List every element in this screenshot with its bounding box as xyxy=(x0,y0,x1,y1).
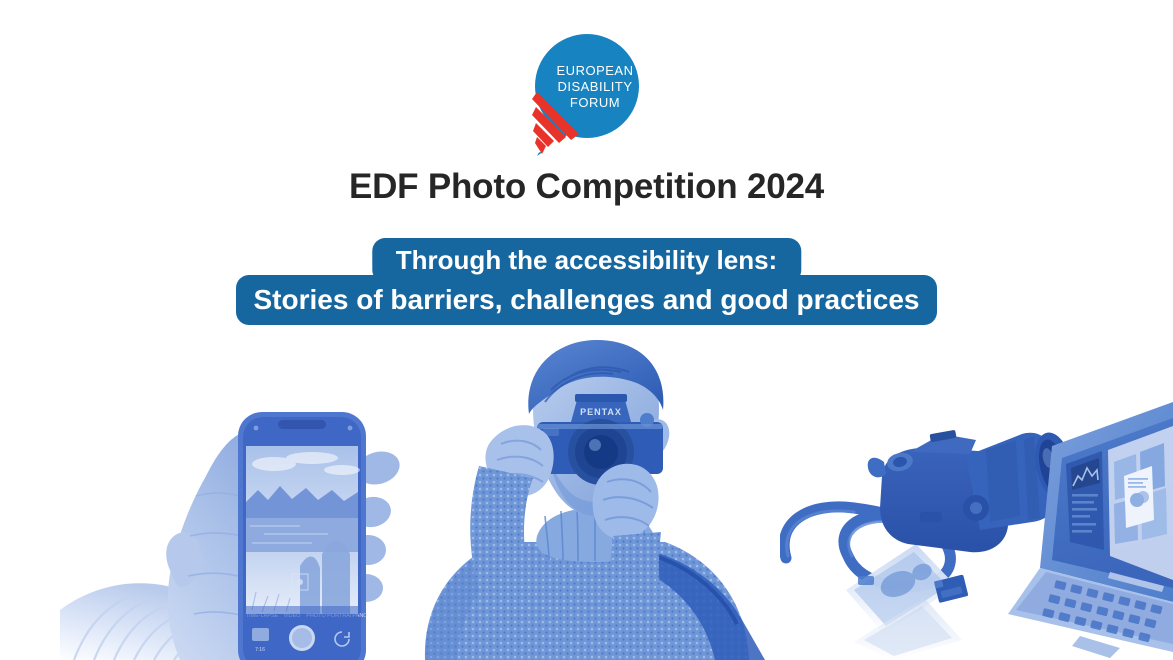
poster-canvas: EUROPEAN DISABILITY FORUM EDF Photo Comp… xyxy=(0,0,1173,660)
svg-text:7:16: 7:16 xyxy=(255,647,265,653)
page-title: EDF Photo Competition 2024 xyxy=(0,166,1173,208)
logo-container: EUROPEAN DISABILITY FORUM xyxy=(0,34,1173,158)
logo-line-2: DISABILITY xyxy=(557,79,632,94)
hand-holding-smartphone-camera: TIME-LAPSE VIDEO PHOTO PORTRAIT PANO 7:1… xyxy=(60,360,440,660)
photographer-with-film-camera: PENTAX xyxy=(415,340,775,660)
logo-line-3: FORUM xyxy=(569,95,619,110)
camera-brand-label: PENTAX xyxy=(580,407,622,417)
subtitle-line-1: Through the accessibility lens: xyxy=(372,238,801,283)
dslr-camera-prints-and-laptop xyxy=(780,390,1173,660)
logo-line-1: EUROPEAN xyxy=(556,63,633,78)
subtitle-banner: Through the accessibility lens: Stories … xyxy=(0,238,1173,328)
european-disability-forum-logo: EUROPEAN DISABILITY FORUM xyxy=(521,34,653,158)
photo-strip: TIME-LAPSE VIDEO PHOTO PORTRAIT PANO 7:1… xyxy=(0,340,1173,660)
